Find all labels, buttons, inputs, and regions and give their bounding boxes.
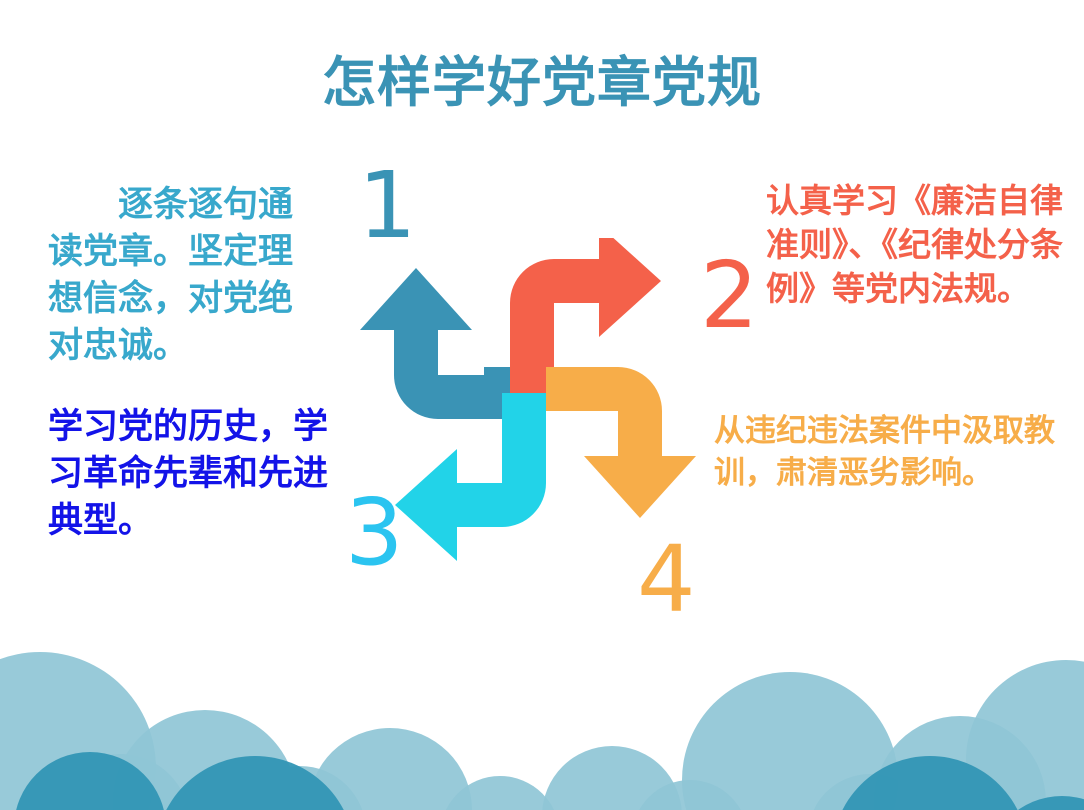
pinwheel-arrow-diagram <box>352 238 724 626</box>
item-2-description: 认真学习《廉洁自律准则》、《纪律处分条例》等党内法规。 <box>766 179 1066 312</box>
cloud-layer-light <box>0 652 1084 810</box>
item-4-description: 从违纪违法案件中汲取教训，肃清恶劣影响。 <box>714 410 1074 493</box>
item-1-description: 逐条逐句通读党章。坚定理想信念，对党绝对忠诚。 <box>48 182 326 370</box>
item-3-description: 学习党的历史，学习革命先辈和先进典型。 <box>48 404 330 545</box>
page-title: 怎样学好党章党规 <box>0 52 1084 114</box>
slide-canvas: 怎样学好党章党规 逐条逐句通读党章。坚定理想信念，对党绝对忠诚。 学习党的历史，… <box>0 0 1084 810</box>
cloud-layer-dark <box>0 752 1084 810</box>
bottom-cloud-decoration <box>0 610 1084 810</box>
